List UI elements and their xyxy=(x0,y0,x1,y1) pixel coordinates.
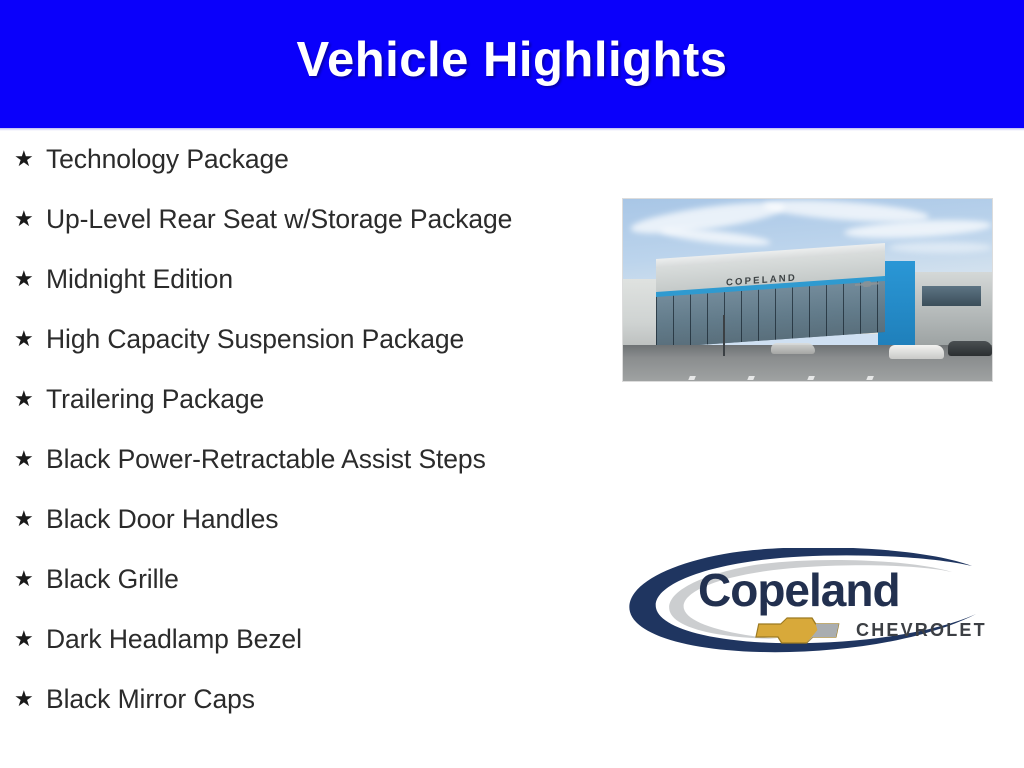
vehicle-highlights-list: ★ Technology Package ★ Up-Level Rear Sea… xyxy=(12,140,612,740)
light-pole xyxy=(723,315,725,355)
logo-wordmark: Copeland xyxy=(698,564,900,616)
dealership-photo: COPELAND xyxy=(622,198,993,382)
star-bullet-icon: ★ xyxy=(12,320,46,358)
list-item: ★ High Capacity Suspension Package xyxy=(12,320,612,358)
list-item: ★ Black Power-Retractable Assist Steps xyxy=(12,440,612,478)
list-item-label: High Capacity Suspension Package xyxy=(46,320,612,358)
list-item-label: Black Door Handles xyxy=(46,500,612,538)
lot-stripe xyxy=(807,376,815,380)
cloud-shape xyxy=(660,226,771,250)
list-item: ★ Dark Headlamp Bezel xyxy=(12,620,612,658)
logo-svg: Copeland CHEVROLET xyxy=(620,548,988,654)
slide-root: Vehicle Highlights ★ Technology Package … xyxy=(0,0,1024,768)
list-item: ★ Up-Level Rear Seat w/Storage Package xyxy=(12,200,612,238)
copeland-chevrolet-logo: Copeland CHEVROLET xyxy=(620,548,988,654)
list-item-label: Dark Headlamp Bezel xyxy=(46,620,612,658)
lot-stripe xyxy=(748,376,756,380)
parked-car xyxy=(889,345,944,360)
star-bullet-icon: ★ xyxy=(12,560,46,598)
chevrolet-bowtie-icon xyxy=(755,618,840,643)
building-right-window xyxy=(922,286,981,306)
list-item: ★ Midnight Edition xyxy=(12,260,612,298)
building-right-wing xyxy=(915,272,992,348)
star-bullet-icon: ★ xyxy=(12,140,46,178)
star-bullet-icon: ★ xyxy=(12,680,46,718)
list-item: ★ Technology Package xyxy=(12,140,612,178)
parked-car xyxy=(948,341,992,356)
banner-underline-divider xyxy=(0,128,1024,131)
list-item-label: Trailering Package xyxy=(46,380,612,418)
list-item: ★ Black Grille xyxy=(12,560,612,598)
page-title: Vehicle Highlights xyxy=(0,34,1024,88)
star-bullet-icon: ★ xyxy=(12,620,46,658)
list-item-label: Up-Level Rear Seat w/Storage Package xyxy=(46,200,612,238)
list-item: ★ Black Mirror Caps xyxy=(12,680,612,718)
list-item-label: Black Mirror Caps xyxy=(46,680,612,718)
header-banner: Vehicle Highlights xyxy=(0,0,1024,128)
list-item-label: Midnight Edition xyxy=(46,260,612,298)
star-bullet-icon: ★ xyxy=(12,500,46,538)
star-bullet-icon: ★ xyxy=(12,380,46,418)
list-item-label: Technology Package xyxy=(46,140,612,178)
star-bullet-icon: ★ xyxy=(12,440,46,478)
star-bullet-icon: ★ xyxy=(12,200,46,238)
list-item: ★ Black Door Handles xyxy=(12,500,612,538)
list-item-label: Black Power-Retractable Assist Steps xyxy=(46,440,612,478)
cloud-shape xyxy=(889,242,992,253)
parked-car xyxy=(771,343,815,354)
logo-brand-text: CHEVROLET xyxy=(856,620,987,640)
star-bullet-icon: ★ xyxy=(12,260,46,298)
list-item: ★ Trailering Package xyxy=(12,380,612,418)
list-item-label: Black Grille xyxy=(46,560,612,598)
lot-stripe xyxy=(689,376,697,380)
lot-stripe xyxy=(866,376,874,380)
